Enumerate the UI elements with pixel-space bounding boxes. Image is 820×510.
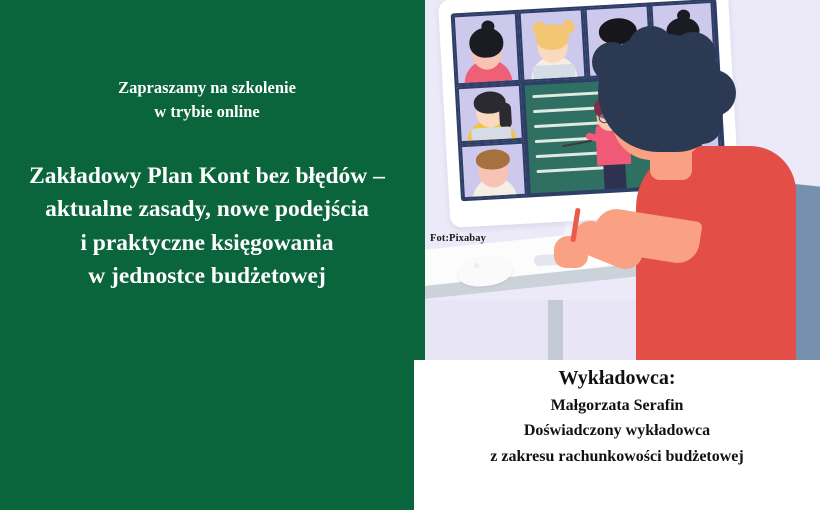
image-green-edge-strip — [414, 0, 425, 360]
right-panel: Fot:Pixabay Wykładowca: Małgorzata Seraf… — [414, 0, 820, 510]
lecturer-description-line-1: Doświadczony wykładowca — [414, 418, 820, 443]
lecturer-description-line-2: z zakresu rachunkowości budżetowej — [414, 444, 820, 469]
title-line-3: i praktyczne księgowania — [0, 227, 414, 260]
photo-credit: Fot:Pixabay — [430, 233, 486, 244]
desk-leg — [548, 300, 563, 360]
viewer-hair-curl-5 — [682, 104, 722, 144]
subtitle-line-2: w trybie online — [0, 100, 414, 124]
page-title: Zakładowy Plan Kont bez błędów – aktualn… — [0, 160, 414, 293]
participant-tile-5 — [457, 84, 524, 143]
participant-tile-1 — [453, 12, 521, 85]
mouse-button-detail — [474, 263, 479, 268]
participant-tile-2 — [519, 8, 587, 81]
training-poster: Zapraszamy na szkolenie w trybie online … — [0, 0, 820, 510]
participant-laptop — [471, 126, 512, 140]
left-green-panel: Zapraszamy na szkolenie w trybie online … — [0, 0, 414, 510]
participant-pigtail-right — [561, 20, 575, 35]
lecturer-name: Małgorzata Serafin — [414, 393, 820, 418]
viewer-hair-curl-1 — [592, 42, 632, 82]
lecturer-heading: Wykładowca: — [414, 363, 820, 393]
title-line-4: w jednostce budżetowej — [0, 260, 414, 293]
viewer-hair-curl-2 — [628, 26, 674, 70]
invitation-subtitle: Zapraszamy na szkolenie w trybie online — [0, 76, 414, 124]
lecturer-info: Wykładowca: Małgorzata Serafin Doświadcz… — [414, 363, 820, 469]
participant-tile-6 — [460, 142, 527, 199]
subtitle-line-1: Zapraszamy na szkolenie — [0, 76, 414, 100]
participant-laptop — [533, 64, 576, 79]
chalkboard-line — [536, 166, 608, 173]
participant-ponytail — [499, 102, 512, 129]
title-line-2: aktualne zasady, nowe podejścia — [0, 193, 414, 226]
title-line-1: Zakładowy Plan Kont bez błędów – — [0, 160, 414, 193]
illustration-image: Fot:Pixabay — [414, 0, 820, 360]
